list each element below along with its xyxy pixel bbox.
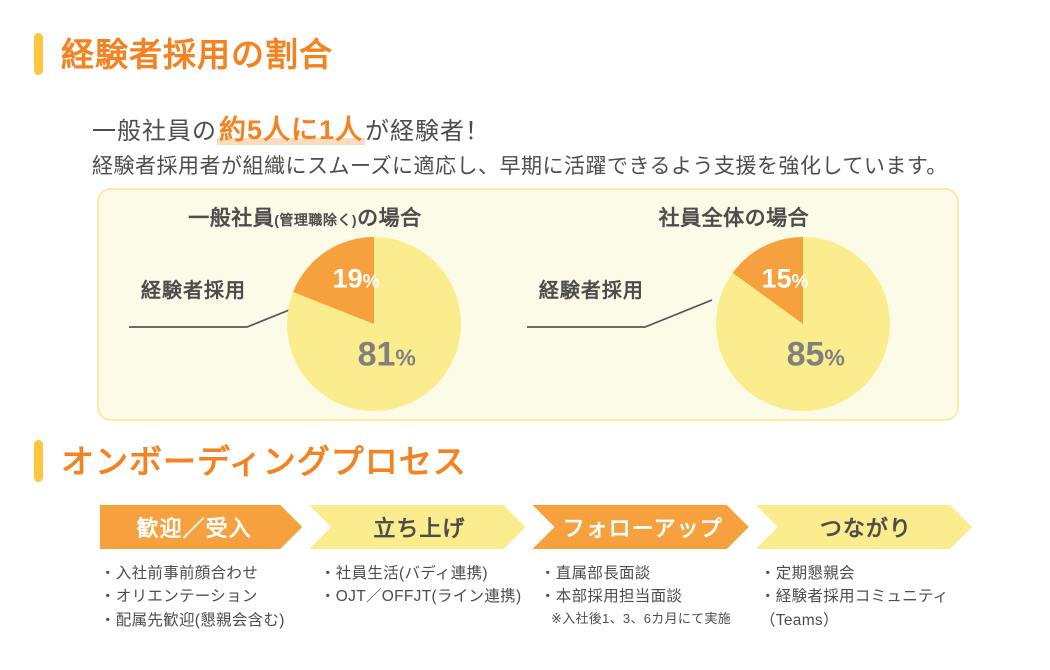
pie-chart-block-0: 一般社員(管理職除く)の場合 経験者採用 19% 81% bbox=[99, 190, 511, 419]
process-detail-column-1: ・入社前事前顔合わせ・オリエンテーション・配属先歓迎(懇親会含む) bbox=[100, 562, 320, 632]
pie-chart-caption-1: 社員全体の場合 bbox=[511, 202, 957, 232]
process-detail-columns: ・入社前事前顔合わせ・オリエンテーション・配属先歓迎(懇親会含む)・社員生活(バ… bbox=[100, 562, 980, 632]
list-item: ・配属先歓迎(懇親会含む) bbox=[100, 609, 312, 632]
list-item: ・オリエンテーション bbox=[100, 585, 312, 608]
pie-chart-caption-0: 一般社員(管理職除く)の場合 bbox=[99, 202, 511, 232]
list-item: ・本部採用担当面談 bbox=[540, 585, 752, 608]
pie-slice-label-minor-1: 15% bbox=[762, 263, 809, 294]
process-step-label: 立ち上げ bbox=[373, 511, 465, 543]
process-step-2[interactable]: 立ち上げ bbox=[309, 505, 525, 549]
list-item: ※入社後1、3、6カ月にて実施 bbox=[540, 609, 752, 629]
pie-value-minor-0: 19 bbox=[333, 263, 363, 293]
list-item: ・定期懇親会 bbox=[760, 562, 972, 585]
lead-highlight: 約5人に1人 bbox=[217, 115, 365, 145]
process-step-label: つながり bbox=[820, 511, 912, 543]
list-item: ・OJT／OFFJT(ライン連携) bbox=[320, 585, 532, 608]
pie-pct-minor-1: % bbox=[792, 271, 809, 292]
process-detail-column-4: ・定期懇親会・経験者採用コミュニティ（Teams） bbox=[760, 562, 980, 632]
process-detail-column-3: ・直属部長面談・本部採用担当面談※入社後1、3、6カ月にて実施 bbox=[540, 562, 760, 632]
pie-pct-major-0: % bbox=[395, 345, 415, 371]
pie-callout-leader-line-1 bbox=[527, 298, 712, 334]
pie-pct-major-1: % bbox=[824, 345, 844, 371]
lead-prefix: 一般社員の bbox=[92, 118, 217, 145]
lead-suffix: が経験者！ bbox=[365, 118, 490, 145]
pie-caption-small-0: (管理職除く) bbox=[274, 212, 357, 228]
accent-bar-icon bbox=[34, 33, 43, 75]
pie-chart-block-1: 社員全体の場合 経験者採用 15% 85% bbox=[511, 190, 957, 419]
pie-chart-panel: 一般社員(管理職除く)の場合 経験者採用 19% 81% 社員全体の場合 経験者… bbox=[97, 188, 959, 421]
lead-line-1: 一般社員の約5人に1人が経験者！ bbox=[92, 108, 490, 147]
process-step-label: 歓迎／受入 bbox=[137, 511, 252, 543]
list-item: ・経験者採用コミュニティ bbox=[760, 585, 972, 608]
pie-chart-1: 15% 85% bbox=[716, 237, 890, 411]
section-title-onboarding: オンボーディングプロセス bbox=[61, 445, 467, 478]
pie-value-minor-1: 15 bbox=[762, 263, 792, 293]
process-detail-column-2: ・社員生活(バディ連携)・OJT／OFFJT(ライン連携) bbox=[320, 562, 540, 632]
process-step-1[interactable]: 歓迎／受入 bbox=[100, 505, 302, 549]
pie-caption-suffix-1: の場合 bbox=[745, 207, 810, 230]
pie-slice-label-major-0: 81% bbox=[358, 336, 416, 375]
process-step-3[interactable]: フォローアップ bbox=[533, 505, 749, 549]
pie-caption-suffix-0: の場合 bbox=[357, 207, 422, 230]
pie-chart-0: 19% 81% bbox=[287, 237, 461, 411]
process-step-4[interactable]: つながり bbox=[756, 505, 972, 549]
list-item: ・直属部長面談 bbox=[540, 562, 752, 585]
pie-value-major-1: 85 bbox=[787, 336, 825, 374]
section-heading-onboarding: オンボーディングプロセス bbox=[34, 440, 467, 482]
section-heading-experienced: 経験者採用の割合 bbox=[34, 33, 333, 75]
pie-pct-minor-0: % bbox=[363, 271, 380, 292]
process-step-label: フォローアップ bbox=[563, 511, 723, 543]
accent-bar-icon bbox=[34, 440, 43, 482]
process-chevron-row: 歓迎／受入立ち上げフォローアップつながり bbox=[100, 505, 972, 549]
list-item: ・社員生活(バディ連携) bbox=[320, 562, 532, 585]
pie-slice-label-major-1: 85% bbox=[787, 336, 845, 375]
list-item: （Teams） bbox=[760, 609, 972, 632]
pie-caption-main-1: 社員全体 bbox=[659, 207, 745, 230]
pie-caption-main-0: 一般社員 bbox=[188, 207, 274, 230]
pie-value-major-0: 81 bbox=[358, 336, 396, 374]
lead-line-2: 経験者採用者が組織にスムーズに適応し、早期に活躍できるよう支援を強化しています。 bbox=[92, 150, 948, 180]
list-item: ・入社前事前顔合わせ bbox=[100, 562, 312, 585]
pie-slice-label-minor-0: 19% bbox=[333, 263, 380, 294]
page-title: 経験者採用の割合 bbox=[61, 38, 333, 71]
